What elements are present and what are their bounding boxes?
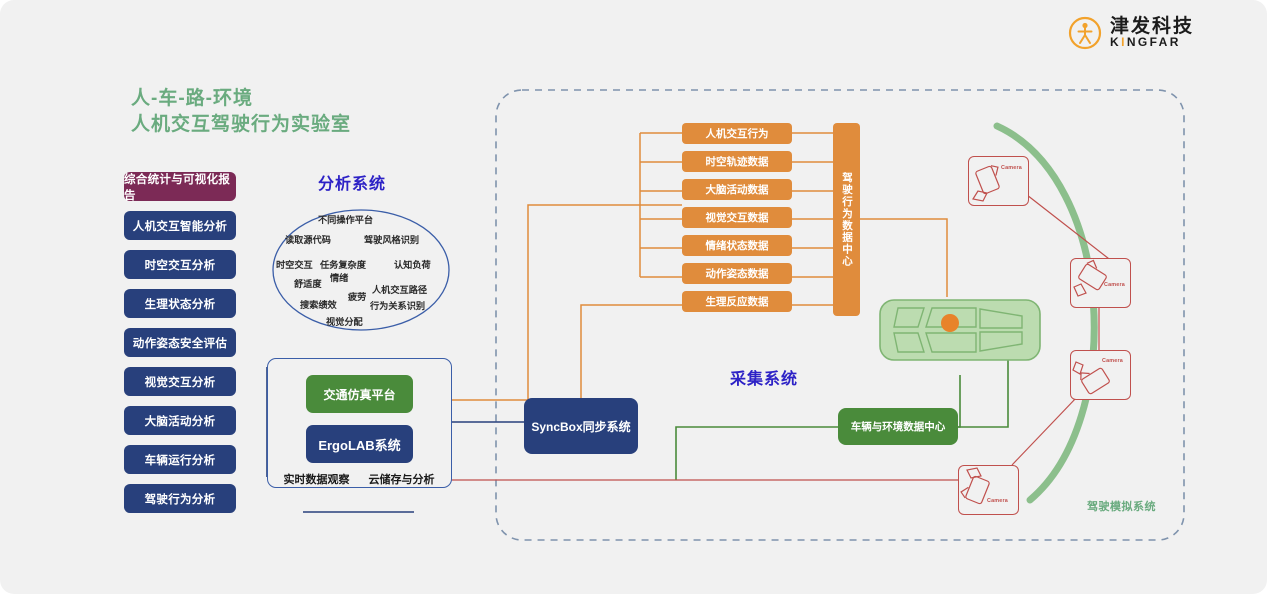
sidebar-item-brain[interactable]: 大脑活动分析 (124, 406, 236, 435)
camera-card-3[interactable]: Camera (1070, 350, 1131, 400)
data-box-physiology[interactable]: 生理反应数据 (682, 291, 792, 312)
data-box-visual[interactable]: 视觉交互数据 (682, 207, 792, 228)
data-box-posture[interactable]: 动作姿态数据 (682, 263, 792, 284)
syncbox-node[interactable]: SyncBox同步系统 (524, 398, 638, 454)
camera-card-2[interactable]: Camera (1070, 258, 1131, 308)
sidebar-item-posture[interactable]: 动作姿态安全评估 (124, 328, 236, 357)
realtime-observation-label: 实时数据观察 (284, 471, 350, 487)
orange-hub-to-vehicle (860, 219, 947, 297)
page-title-line1: 人-车-路-环境 (131, 86, 461, 112)
keyword-item: 不同操作平台 (318, 212, 373, 226)
data-stream-list: 人机交互行为 时空轨迹数据 大脑活动数据 视觉交互数据 情绪状态数据 动作姿态数… (682, 123, 792, 312)
keyword-item: 情绪 (330, 270, 348, 284)
keyword-item: 任务复杂度 (320, 257, 366, 271)
green-env-to-syncbox (676, 427, 838, 480)
orange-syncbox-to-physio (581, 305, 598, 398)
camera-card-4[interactable]: Camera (958, 465, 1019, 515)
driving-behavior-data-center[interactable]: 驾驶行为数据中心 (833, 123, 860, 316)
orange-platform-to-boxes (450, 205, 682, 400)
keyword-item: 视觉分配 (326, 314, 363, 328)
keyword-item: 时空交互 (276, 257, 313, 271)
page-title: 人-车-路-环境 人机交互驾驶行为实验室 (131, 86, 461, 138)
simulation-system-label: 驾驶模拟系统 (1087, 498, 1156, 514)
camera-label: Camera (1102, 358, 1123, 364)
vehicle-environment-data-center[interactable]: 车辆与环境数据中心 (838, 408, 958, 445)
analysis-system-heading: 分析系统 (318, 170, 386, 194)
sensor-dot-icon (941, 314, 959, 332)
vehicle-top-view (880, 300, 1040, 360)
platform-panel: 交通仿真平台 ErgoLAB系统 (267, 358, 452, 488)
collection-system-heading: 采集系统 (730, 365, 798, 389)
platform-footer: 实时数据观察 云储存与分析 (274, 471, 444, 487)
sidebar-item-hmi[interactable]: 人机交互智能分析 (124, 211, 236, 240)
sidebar-item-vehicle[interactable]: 车辆运行分析 (124, 445, 236, 474)
data-box-hmi-behavior[interactable]: 人机交互行为 (682, 123, 792, 144)
sidebar-item-visual[interactable]: 视觉交互分析 (124, 367, 236, 396)
camera-card-1[interactable]: Camera (968, 156, 1029, 206)
keyword-item: 舒适度 (294, 276, 322, 290)
traffic-simulation-platform-button[interactable]: 交通仿真平台 (306, 375, 413, 413)
sidebar-item-spatiotemporal[interactable]: 时空交互分析 (124, 250, 236, 279)
cloud-storage-label: 云储存与分析 (369, 471, 435, 487)
ergolab-system-button[interactable]: ErgoLAB系统 (306, 425, 413, 463)
keyword-item: 认知负荷 (394, 257, 431, 271)
keyword-item: 疲劳 (348, 289, 366, 303)
green-vehicle-to-env (958, 375, 960, 427)
keyword-item: 行为关系识别 (370, 298, 425, 312)
data-box-trajectory[interactable]: 时空轨迹数据 (682, 151, 792, 172)
keyword-item: 搜索绩效 (300, 297, 337, 311)
brand-name-en: KINGFAR (1110, 36, 1194, 49)
camera-label: Camera (987, 498, 1008, 504)
data-box-brain-activity[interactable]: 大脑活动数据 (682, 179, 792, 200)
analysis-module-list: 综合统计与可视化报告 人机交互智能分析 时空交互分析 生理状态分析 动作姿态安全… (124, 172, 236, 513)
data-box-emotion[interactable]: 情绪状态数据 (682, 235, 792, 256)
sidebar-item-physiology[interactable]: 生理状态分析 (124, 289, 236, 318)
keyword-item: 驾驶风格识别 (364, 232, 419, 246)
keyword-item: 人机交互路径 (372, 282, 427, 296)
brand-name-cn: 津发科技 (1110, 17, 1194, 36)
sidebar-item-driving[interactable]: 驾驶行为分析 (124, 484, 236, 513)
diagram-canvas: 津发科技 KINGFAR 人-车-路-环境 人机交互驾驶行为实验室 综合统计与可… (0, 0, 1267, 594)
keyword-item: 读取源代码 (285, 232, 331, 246)
analysis-keyword-cloud: 不同操作平台 读取源代码 驾驶风格识别 时空交互 任务复杂度 认知负荷 舒适度 … (276, 212, 448, 330)
camera-label: Camera (1104, 282, 1125, 288)
sidebar-item-report[interactable]: 综合统计与可视化报告 (124, 172, 236, 201)
camera-label: Camera (1001, 165, 1022, 171)
camera-icon (959, 466, 1018, 514)
brand-logo: 津发科技 KINGFAR (1068, 16, 1194, 50)
kingfar-person-circle-icon (1068, 16, 1102, 50)
page-title-line2: 人机交互驾驶行为实验室 (131, 112, 461, 138)
